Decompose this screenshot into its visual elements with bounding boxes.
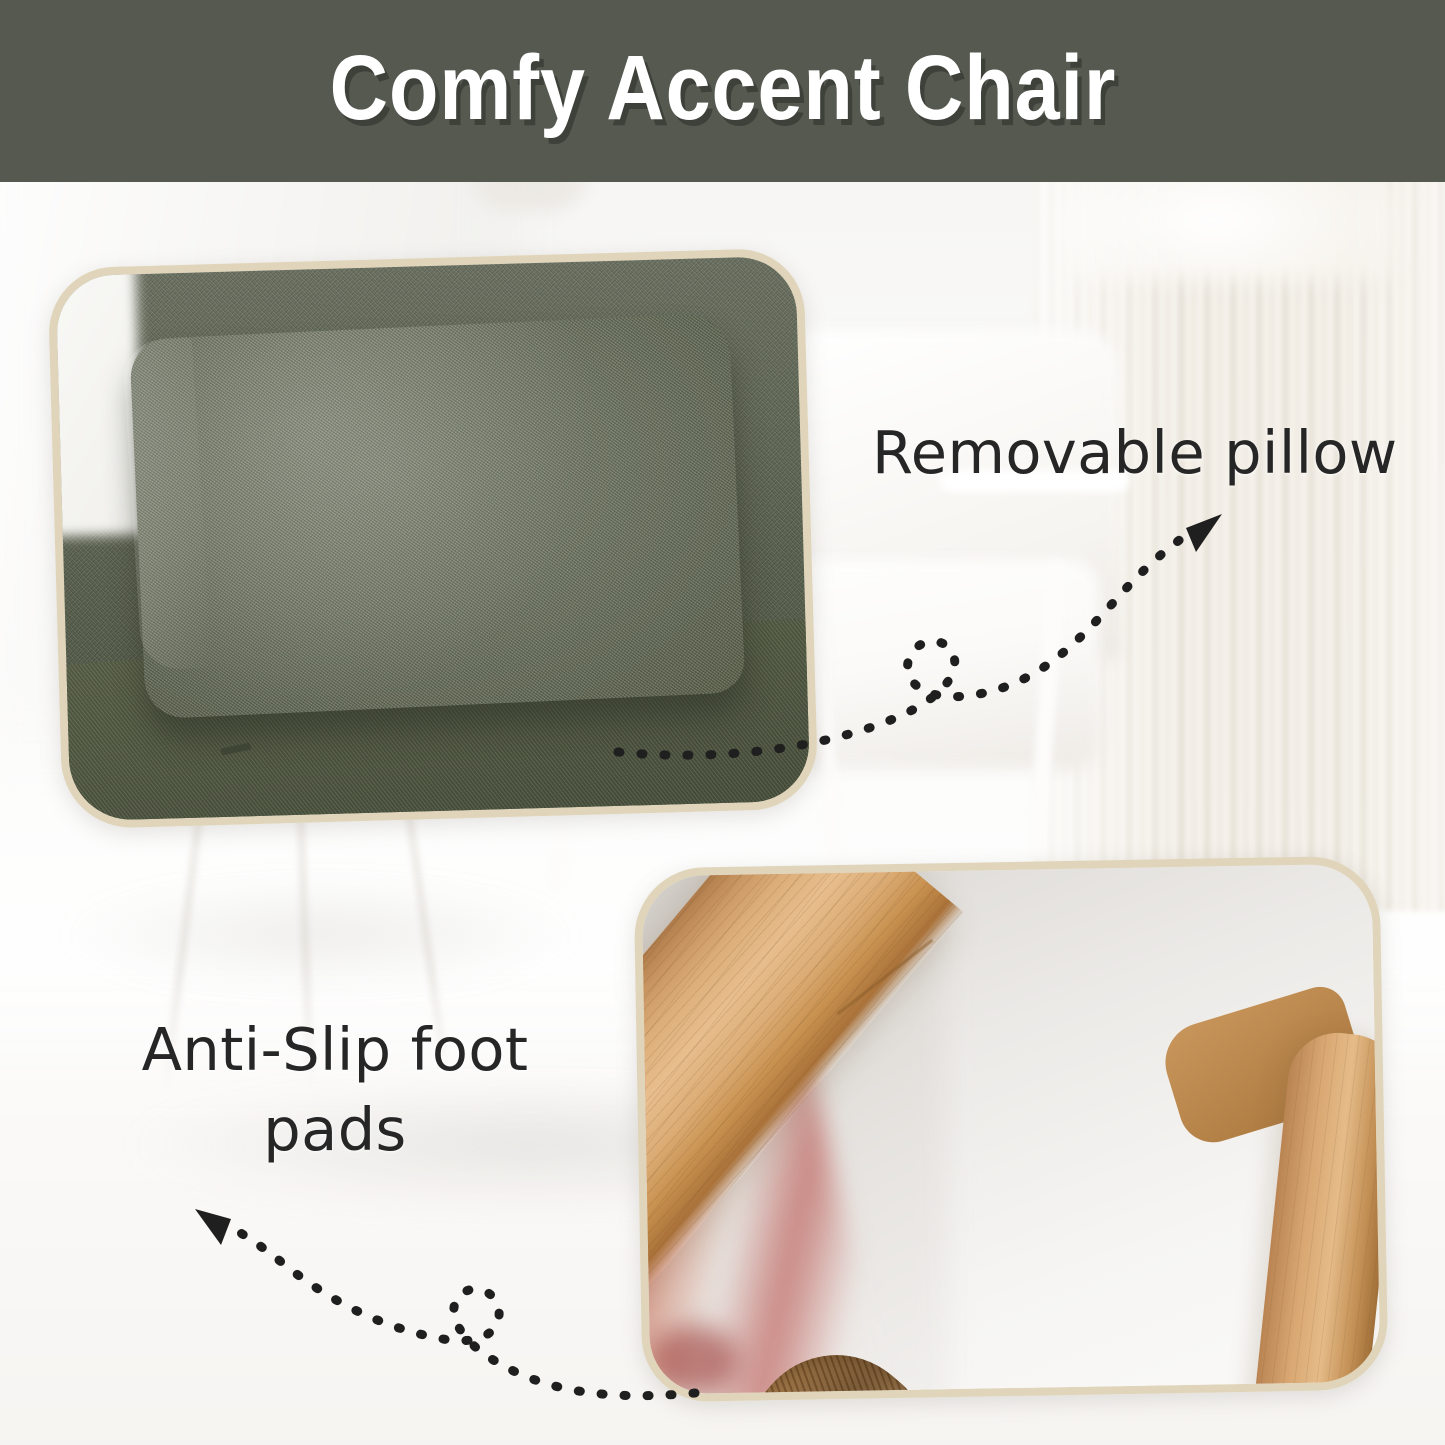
product-feature-graphic: Comfy Accent Chair	[0, 0, 1445, 1445]
arrow-to-anti-slip-foot-pads	[155, 1195, 715, 1445]
header-bar: Comfy Accent Chair	[0, 0, 1445, 182]
page-title: Comfy Accent Chair	[329, 36, 1116, 147]
floor-shadow	[60, 880, 580, 990]
footpad-scene	[642, 864, 1381, 1395]
callout-footpad-photo	[642, 864, 1381, 1395]
label-anti-slip-foot-pads: Anti-Slip foot pads	[120, 1010, 550, 1170]
arrow-to-removable-pillow	[600, 500, 1280, 800]
arrowhead-icon	[195, 1209, 231, 1245]
label-line-1: Anti-Slip foot	[120, 1010, 550, 1090]
label-removable-pillow: Removable pillow	[872, 418, 1398, 487]
label-line-2: pads	[120, 1090, 550, 1170]
arrow-dotted-path	[227, 1225, 695, 1396]
arrow-dotted-path	[618, 530, 1194, 755]
anti-slip-felt-pad	[720, 1393, 907, 1394]
callout-anti-slip-foot-pads	[633, 856, 1388, 1403]
arrowhead-icon	[1186, 514, 1222, 552]
